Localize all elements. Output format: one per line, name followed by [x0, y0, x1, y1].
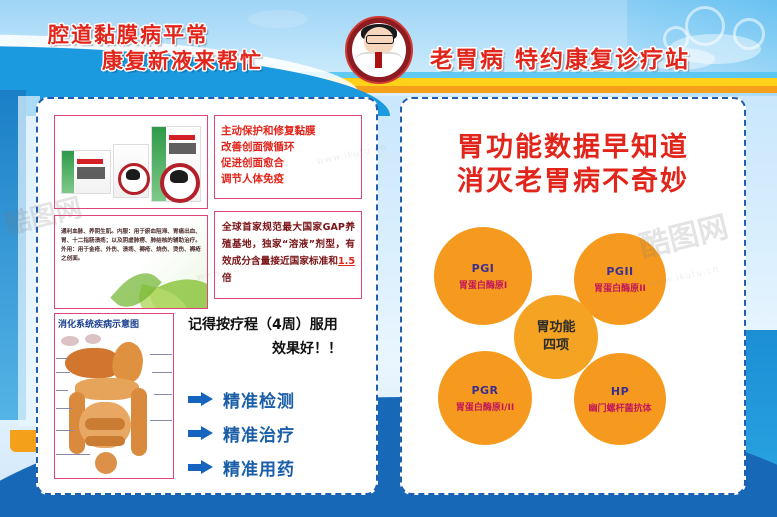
arrow-right-icon [188, 460, 214, 475]
benefit-item: 促进创面愈合 [215, 155, 361, 171]
step-label: 精准治疗 [223, 421, 295, 446]
product-photo-box [54, 115, 208, 209]
marker-name: 胃蛋白酶原II [594, 281, 646, 294]
anatomy-callout-line [150, 420, 172, 421]
marker-circle-hp[interactable]: HP 幽门螺杆菌抗体 [574, 353, 666, 445]
marker-code: PGR [471, 384, 498, 397]
anatomy-callout-line [56, 358, 68, 359]
anatomy-callout-line [56, 430, 74, 431]
benefits-box: 主动保护和修复黏膜 改善创面微循环 促进创面愈合 调节人体免疫 [214, 115, 362, 199]
header-right-title: 老胃病 特约康复诊疗站 [430, 40, 690, 74]
marker-circle-pgr[interactable]: PGR 胃蛋白酶原I/II [438, 351, 532, 445]
anatomy-salivary-gland [85, 334, 101, 344]
benefit-item: 调节人体免疫 [215, 171, 361, 187]
step-row-detection[interactable]: 精准检测 [188, 387, 295, 412]
center-label-line1: 胃功能 [536, 319, 575, 337]
header-title-line2: 康复新液来帮忙 [102, 48, 348, 74]
indications-description-box: 通利血脉、养阴生肌。内服：用于瘀血阻滞、胃痛出血、胃、十二指肠溃疡；以及阴虚肺痨… [54, 215, 208, 309]
product-green-stripe [62, 151, 74, 193]
benefit-item: 改善创面微循环 [215, 139, 361, 155]
doctor-portrait-logo-icon [345, 16, 413, 84]
indications-text: 通利血脉、养阴生肌。内服：用于瘀血阻滞、胃痛出血、胃、十二指肠溃疡；以及阴虚肺痨… [55, 216, 207, 264]
logo-inner [352, 23, 406, 77]
logo-necktie [375, 52, 382, 68]
step-label: 精准检测 [223, 387, 295, 412]
anatomy-callout-line [152, 372, 172, 373]
anatomy-intestine-loop [85, 436, 125, 446]
anatomy-callout-line [56, 372, 70, 373]
benefit-item: 主动保护和修复黏膜 [215, 123, 361, 139]
anatomy-rectum [95, 452, 117, 474]
logo-glasses-icon [366, 35, 394, 44]
anatomy-callout-line [56, 454, 90, 455]
product-red-text [77, 159, 103, 164]
marker-code: PGI [472, 262, 495, 275]
step-row-medication[interactable]: 精准用药 [188, 455, 295, 480]
course-instruction: 记得按疗程（4周）服用 效果好！！ [188, 313, 368, 361]
right-content-panel: 胃功能数据早知道 消灭老胃病不奇妙 PGI 胃蛋白酶原I PGII 胃蛋白酶原I… [400, 97, 746, 495]
course-line-1: 记得按疗程（4周）服用 [188, 313, 368, 337]
anatomy-callout-line [150, 354, 172, 355]
gap-claim-box: 全球首家规范最大国家GAP养殖基地，独家“溶液”剂型，有效成分含量接近国家标准和… [214, 211, 362, 299]
product-black-text [169, 143, 196, 154]
gap-claim-text: 全球首家规范最大国家GAP养殖基地，独家“溶液”剂型，有效成分含量接近国家标准和… [215, 212, 361, 287]
anatomy-callout-line [56, 408, 72, 409]
right-title-line2: 消灭老胃病不奇妙 [402, 159, 744, 198]
marker-name: 胃蛋白酶原I/II [456, 400, 514, 413]
left-content-panel: 主动保护和修复黏膜 改善创面微循环 促进创面愈合 调节人体免疫 通利血脉、养阴生… [36, 97, 378, 495]
arrow-right-icon [188, 426, 214, 441]
product-portrait-seal [118, 163, 150, 195]
product-red-text [169, 135, 195, 140]
product-box-small [61, 150, 111, 194]
benefits-list: 主动保护和修复黏膜 改善创面微循环 促进创面愈合 调节人体免疫 [215, 116, 361, 187]
anatomy-intestine-loop [85, 418, 125, 430]
step-row-treatment[interactable]: 精准治疗 [188, 421, 295, 446]
marker-circle-pgi[interactable]: PGI 胃蛋白酶原I [434, 227, 532, 325]
arrow-right-icon [188, 392, 214, 407]
product-portrait-seal [160, 163, 200, 203]
header-title-line1: 腔道黏膜病平常 [48, 22, 348, 48]
product-seal-hair [170, 170, 188, 183]
course-line-2: 效果好！！ [188, 337, 368, 361]
step-label: 精准用药 [223, 455, 295, 480]
marker-name: 幽门螺杆菌抗体 [588, 401, 651, 414]
product-box-large [151, 126, 201, 202]
anatomy-diagram-box [54, 313, 174, 479]
marker-code: HP [611, 385, 629, 398]
center-circle-summary[interactable]: 胃功能 四项 [514, 295, 598, 379]
poster-canvas: 腔道黏膜病平常 康复新液来帮忙 老胃病 特约康复诊疗站 [0, 0, 777, 517]
anatomy-illustration [55, 332, 173, 478]
anatomy-descending-colon [131, 388, 147, 456]
header-left-title: 腔道黏膜病平常 康复新液来帮忙 [48, 22, 348, 74]
marker-name: 胃蛋白酶原I [459, 278, 507, 291]
gap-text-highlight: 1.5 [338, 256, 355, 267]
anatomy-callout-line [154, 394, 172, 395]
center-label-line2: 四项 [543, 337, 569, 355]
anatomy-salivary-gland [61, 336, 79, 346]
anatomy-liver [65, 348, 119, 378]
product-seal-hair [126, 169, 140, 180]
product-black-text [77, 167, 105, 179]
gap-text-part2: 倍 [222, 273, 232, 284]
anatomy-callout-line [56, 390, 68, 391]
anatomy-diagram-title: 消化系统疾病示意图 [58, 317, 139, 330]
product-bottle-carton [113, 144, 149, 198]
marker-code: PGII [606, 265, 633, 278]
gap-text-part1: 全球首家规范最大国家GAP养殖基地，独家“溶液”剂型，有效成分含量接近国家标准和 [222, 222, 355, 267]
